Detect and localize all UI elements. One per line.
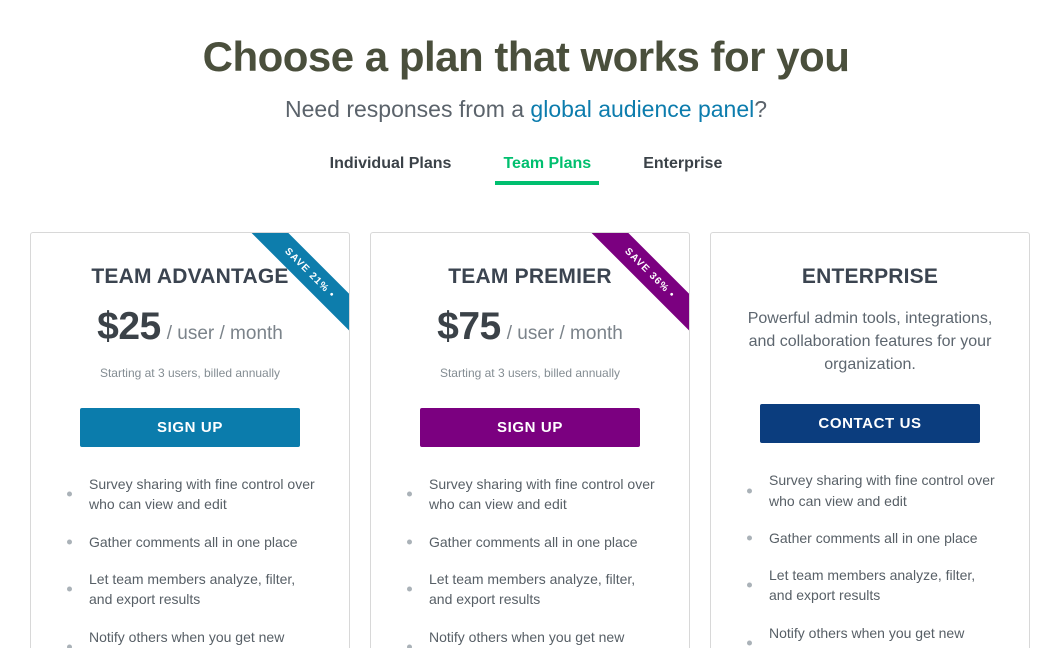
plan-feature-item: Let team members analyze, filter, and ex… bbox=[741, 565, 999, 606]
plan-feature-item: Survey sharing with fine control over wh… bbox=[741, 470, 999, 511]
plan-name: ENTERPRISE bbox=[741, 265, 999, 288]
plan-feature-label: Let team members analyze, filter, and ex… bbox=[769, 565, 999, 606]
plan-feature-list: Survey sharing with fine control over wh… bbox=[741, 470, 999, 648]
bullet-dot-icon bbox=[67, 644, 72, 648]
plan-feature-label: Notify others when you get new responses bbox=[429, 627, 659, 648]
plan-feature-label: Gather comments all in one place bbox=[89, 532, 298, 552]
plan-feature-label: Notify others when you get new responses bbox=[89, 627, 319, 648]
plan-feature-item: Survey sharing with fine control over wh… bbox=[61, 474, 319, 515]
pricing-card: SAVE 36% •TEAM PREMIER$75/ user / monthS… bbox=[370, 232, 690, 648]
bullet-dot-icon bbox=[407, 644, 412, 648]
pricing-card: SAVE 21% •TEAM ADVANTAGE$25/ user / mont… bbox=[30, 232, 350, 648]
page-title: Choose a plan that works for you bbox=[0, 33, 1052, 81]
plan-price-row: $25/ user / month bbox=[61, 305, 319, 349]
hero-section: Choose a plan that works for you Need re… bbox=[0, 0, 1052, 125]
plan-feature-item: Gather comments all in one place bbox=[61, 532, 319, 552]
plan-cta-button[interactable]: CONTACT US bbox=[760, 404, 980, 443]
global-audience-panel-link[interactable]: global audience panel bbox=[530, 96, 754, 122]
plan-feature-list: Survey sharing with fine control over wh… bbox=[61, 474, 319, 648]
plan-feature-list: Survey sharing with fine control over wh… bbox=[401, 474, 659, 648]
plan-feature-label: Gather comments all in one place bbox=[769, 528, 978, 548]
plan-feature-label: Notify others when you get new responses bbox=[769, 623, 999, 648]
plan-cta-button[interactable]: SIGN UP bbox=[80, 408, 300, 447]
tab-team-plans[interactable]: Team Plans bbox=[477, 155, 617, 185]
hero-subtitle: Need responses from a global audience pa… bbox=[0, 95, 1052, 125]
plan-feature-label: Gather comments all in one place bbox=[429, 532, 638, 552]
bullet-dot-icon bbox=[67, 587, 72, 592]
bullet-dot-icon bbox=[67, 539, 72, 544]
tab-individual-plans[interactable]: Individual Plans bbox=[304, 155, 478, 185]
plan-feature-item: Let team members analyze, filter, and ex… bbox=[401, 569, 659, 610]
pricing-card: ENTERPRISEPowerful admin tools, integrat… bbox=[710, 232, 1030, 648]
plan-name: TEAM PREMIER bbox=[401, 265, 659, 288]
plan-feature-item: Notify others when you get new responses bbox=[401, 627, 659, 648]
plan-feature-item: Notify others when you get new responses bbox=[741, 623, 999, 648]
plan-description: Powerful admin tools, integrations, and … bbox=[741, 308, 999, 376]
bullet-dot-icon bbox=[747, 583, 752, 588]
plan-feature-item: Let team members analyze, filter, and ex… bbox=[61, 569, 319, 610]
plan-feature-item: Survey sharing with fine control over wh… bbox=[401, 474, 659, 515]
bullet-dot-icon bbox=[407, 587, 412, 592]
plan-cta-button[interactable]: SIGN UP bbox=[420, 408, 640, 447]
plan-price: $75 bbox=[437, 305, 501, 348]
plan-price-row: $75/ user / month bbox=[401, 305, 659, 349]
plan-price-note: Starting at 3 users, billed annually bbox=[61, 366, 319, 380]
bullet-dot-icon bbox=[67, 492, 72, 497]
bullet-dot-icon bbox=[407, 492, 412, 497]
plan-tabs: Individual PlansTeam PlansEnterprise bbox=[0, 155, 1052, 185]
plan-feature-label: Survey sharing with fine control over wh… bbox=[429, 474, 659, 515]
plan-feature-label: Survey sharing with fine control over wh… bbox=[769, 470, 999, 511]
bullet-dot-icon bbox=[747, 535, 752, 540]
plan-feature-item: Gather comments all in one place bbox=[401, 532, 659, 552]
plan-feature-item: Notify others when you get new responses bbox=[61, 627, 319, 648]
hero-subtitle-prefix: Need responses from a bbox=[285, 96, 530, 122]
plan-feature-label: Let team members analyze, filter, and ex… bbox=[429, 569, 659, 610]
bullet-dot-icon bbox=[747, 488, 752, 493]
plan-name: TEAM ADVANTAGE bbox=[61, 265, 319, 288]
plan-feature-item: Gather comments all in one place bbox=[741, 528, 999, 548]
plan-feature-label: Survey sharing with fine control over wh… bbox=[89, 474, 319, 515]
plan-price: $25 bbox=[97, 305, 161, 348]
plan-price-unit: / user / month bbox=[167, 323, 283, 344]
plan-price-unit: / user / month bbox=[507, 323, 623, 344]
hero-subtitle-suffix: ? bbox=[754, 96, 767, 122]
pricing-cards: SAVE 21% •TEAM ADVANTAGE$25/ user / mont… bbox=[30, 232, 1030, 648]
tab-enterprise[interactable]: Enterprise bbox=[617, 155, 748, 185]
plan-price-note: Starting at 3 users, billed annually bbox=[401, 366, 659, 380]
bullet-dot-icon bbox=[407, 539, 412, 544]
pricing-page: Choose a plan that works for you Need re… bbox=[0, 0, 1052, 648]
bullet-dot-icon bbox=[747, 641, 752, 646]
plan-feature-label: Let team members analyze, filter, and ex… bbox=[89, 569, 319, 610]
